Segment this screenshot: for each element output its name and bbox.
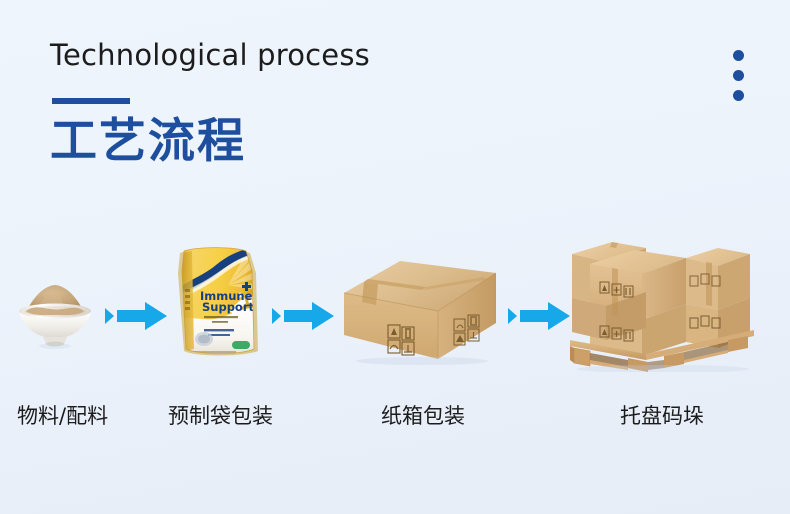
more-options-menu[interactable] (733, 50, 744, 101)
step-pallet-image (568, 232, 754, 372)
menu-dot-icon (733, 70, 744, 81)
svg-text:Support: Support (202, 300, 255, 314)
step-materials-image (10, 280, 100, 350)
page-title-chinese: 工艺流程 (50, 118, 370, 166)
menu-dot-icon (733, 90, 744, 101)
caption-pallet-stacking: 托盘码垛 (620, 400, 704, 430)
step-pouch-image: Immune Support (170, 245, 262, 360)
flow-arrow-icon (105, 299, 167, 333)
title-divider-rule (52, 98, 130, 104)
flow-arrow-icon (508, 299, 570, 333)
flow-arrow-icon (272, 299, 334, 333)
menu-dot-icon (733, 50, 744, 61)
page-header: Technological process 工艺流程 (50, 38, 370, 166)
caption-materials: 物料/配料 (17, 400, 108, 430)
step-carton-image (338, 255, 503, 365)
step-caption-row: 物料/配料 预制袋包装 纸箱包装 托盘码垛 (0, 400, 790, 440)
caption-carton-packaging: 纸箱包装 (381, 400, 465, 430)
page-title-english: Technological process (50, 38, 370, 72)
caption-pouch-packaging: 预制袋包装 (168, 400, 273, 430)
